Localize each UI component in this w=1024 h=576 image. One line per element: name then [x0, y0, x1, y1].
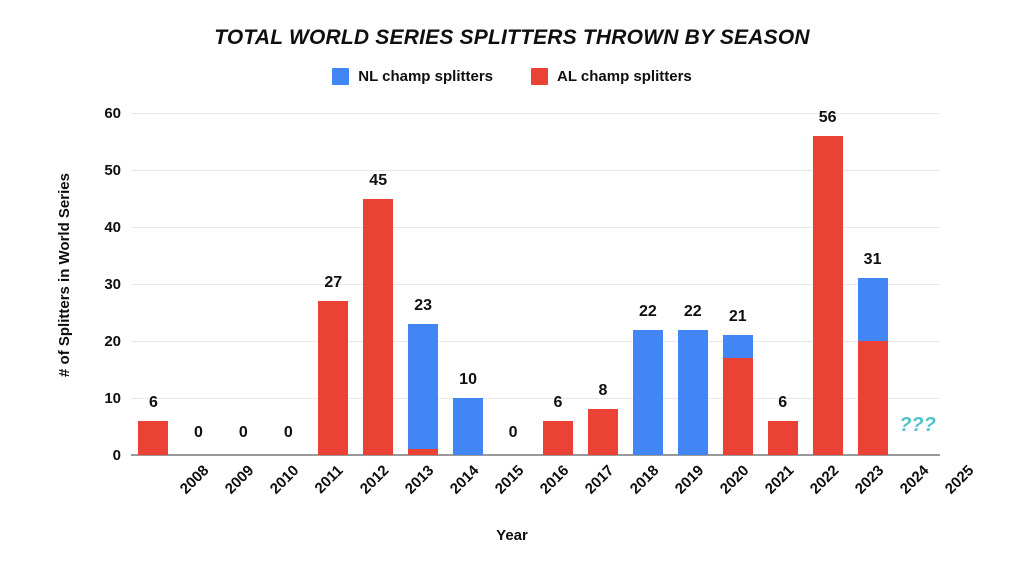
- bar-segment-al[interactable]: [408, 449, 438, 455]
- legend-label-nl: NL champ splitters: [358, 68, 493, 85]
- x-tick-label: 2021: [762, 462, 798, 498]
- x-tick-label: 2016: [537, 462, 573, 498]
- y-axis-title-wrap: # of Splitters in World Series: [62, 445, 63, 446]
- bar-stack[interactable]: [588, 409, 618, 455]
- bar-segment-al[interactable]: [813, 136, 843, 455]
- bar-segment-al[interactable]: [858, 341, 888, 455]
- bar-slot[interactable]: 31: [850, 113, 895, 455]
- bar-stack[interactable]: [723, 335, 753, 455]
- x-tick-label: 2017: [582, 462, 618, 498]
- bar-slot[interactable]: ???: [895, 113, 940, 455]
- x-tick-label: 2024: [896, 462, 932, 498]
- bar-segment-nl[interactable]: [678, 330, 708, 455]
- bar-value-label: 27: [324, 275, 342, 291]
- y-tick-label: 20: [75, 334, 121, 349]
- bar-value-label: 0: [509, 425, 518, 441]
- bar-value-label: 0: [284, 425, 293, 441]
- x-tick-label: 2015: [492, 462, 528, 498]
- bar-stack[interactable]: [633, 330, 663, 455]
- y-tick-label: 40: [75, 220, 121, 235]
- bar-stack[interactable]: [318, 301, 348, 455]
- bar-slot[interactable]: 22: [670, 113, 715, 455]
- bar-segment-nl[interactable]: [408, 324, 438, 449]
- bar-value-label: 45: [369, 173, 387, 189]
- bar-slot[interactable]: 0: [221, 113, 266, 455]
- bar-value-label: 23: [414, 298, 432, 314]
- bar-segment-al[interactable]: [768, 421, 798, 455]
- x-tick-label: 2020: [717, 462, 753, 498]
- bar-stack[interactable]: [768, 421, 798, 455]
- x-tick-label: 2009: [222, 462, 258, 498]
- bar-slot[interactable]: 21: [715, 113, 760, 455]
- bar-value-label: 21: [729, 309, 747, 325]
- bar-segment-al[interactable]: [723, 358, 753, 455]
- x-tick-label: 2014: [447, 462, 483, 498]
- chart-legend: NL champ splitters AL champ splitters: [0, 68, 1024, 85]
- bar-slot[interactable]: 27: [311, 113, 356, 455]
- bar-segment-al[interactable]: [588, 409, 618, 455]
- bar-segment-nl[interactable]: [453, 398, 483, 455]
- legend-swatch-al-icon: [531, 68, 548, 85]
- bar-slot[interactable]: 56: [805, 113, 850, 455]
- x-tick-label: 2008: [177, 462, 213, 498]
- legend-entry-nl[interactable]: NL champ splitters: [332, 68, 493, 85]
- x-tick-label: 2011: [312, 462, 347, 497]
- bar-segment-al[interactable]: [543, 421, 573, 455]
- y-tick-label: 60: [75, 106, 121, 121]
- bar-slot[interactable]: 23: [401, 113, 446, 455]
- bar-value-label: 22: [639, 304, 657, 320]
- bar-stack[interactable]: [453, 398, 483, 455]
- bar-slot[interactable]: 6: [760, 113, 805, 455]
- chart-title: TOTAL WORLD SERIES SPLITTERS THROWN BY S…: [0, 26, 1024, 50]
- bar-value-label: 6: [554, 395, 563, 411]
- bar-stack[interactable]: [813, 136, 843, 455]
- bar-stack[interactable]: [138, 421, 168, 455]
- x-tick-label: 2013: [402, 462, 438, 498]
- bar-value-label: 22: [684, 304, 702, 320]
- bar-segment-nl[interactable]: [723, 335, 753, 358]
- bar-segment-al[interactable]: [318, 301, 348, 455]
- x-tick-label: 2012: [357, 462, 393, 498]
- bar-slot[interactable]: 0: [491, 113, 536, 455]
- x-tick-label: 2018: [627, 462, 663, 498]
- x-axis-title: Year: [0, 527, 1024, 544]
- bar-stack[interactable]: [408, 324, 438, 455]
- x-tick-label: 2025: [941, 462, 977, 498]
- bar-slot[interactable]: 10: [446, 113, 491, 455]
- x-tick-label: 2019: [672, 462, 708, 498]
- unknown-value-annotation: ???: [899, 415, 936, 435]
- legend-swatch-nl-icon: [332, 68, 349, 85]
- bar-slot[interactable]: 0: [176, 113, 221, 455]
- x-tick-label: 2022: [806, 462, 842, 498]
- x-tick-label: 2023: [851, 462, 887, 498]
- bar-value-label: 6: [778, 395, 787, 411]
- bar-stack[interactable]: [363, 199, 393, 456]
- bar-value-label: 56: [819, 110, 837, 126]
- y-tick-label: 30: [75, 277, 121, 292]
- y-tick-label: 10: [75, 391, 121, 406]
- bar-value-label: 0: [194, 425, 203, 441]
- bar-slot[interactable]: 22: [625, 113, 670, 455]
- bar-slot[interactable]: 8: [580, 113, 625, 455]
- bar-stack[interactable]: [543, 421, 573, 455]
- bar-value-label: 0: [239, 425, 248, 441]
- bar-slot[interactable]: 0: [266, 113, 311, 455]
- legend-label-al: AL champ splitters: [557, 68, 692, 85]
- bar-slot[interactable]: 6: [536, 113, 581, 455]
- y-tick-label: 50: [75, 163, 121, 178]
- bar-slot[interactable]: 45: [356, 113, 401, 455]
- bar-value-label: 31: [864, 252, 882, 268]
- bar-value-label: 6: [149, 395, 158, 411]
- plot-area: 60002745231006822222165631???: [131, 113, 940, 455]
- bar-segment-nl[interactable]: [633, 330, 663, 455]
- bar-stack[interactable]: [678, 330, 708, 455]
- bar-stack[interactable]: [858, 278, 888, 455]
- bar-value-label: 8: [598, 383, 607, 399]
- bar-slot[interactable]: 6: [131, 113, 176, 455]
- y-tick-label: 0: [75, 448, 121, 463]
- legend-entry-al[interactable]: AL champ splitters: [531, 68, 692, 85]
- bar-segment-al[interactable]: [363, 199, 393, 456]
- bar-segment-nl[interactable]: [858, 278, 888, 341]
- x-tick-label: 2010: [267, 462, 303, 498]
- bar-value-label: 10: [459, 372, 477, 388]
- bar-segment-al[interactable]: [138, 421, 168, 455]
